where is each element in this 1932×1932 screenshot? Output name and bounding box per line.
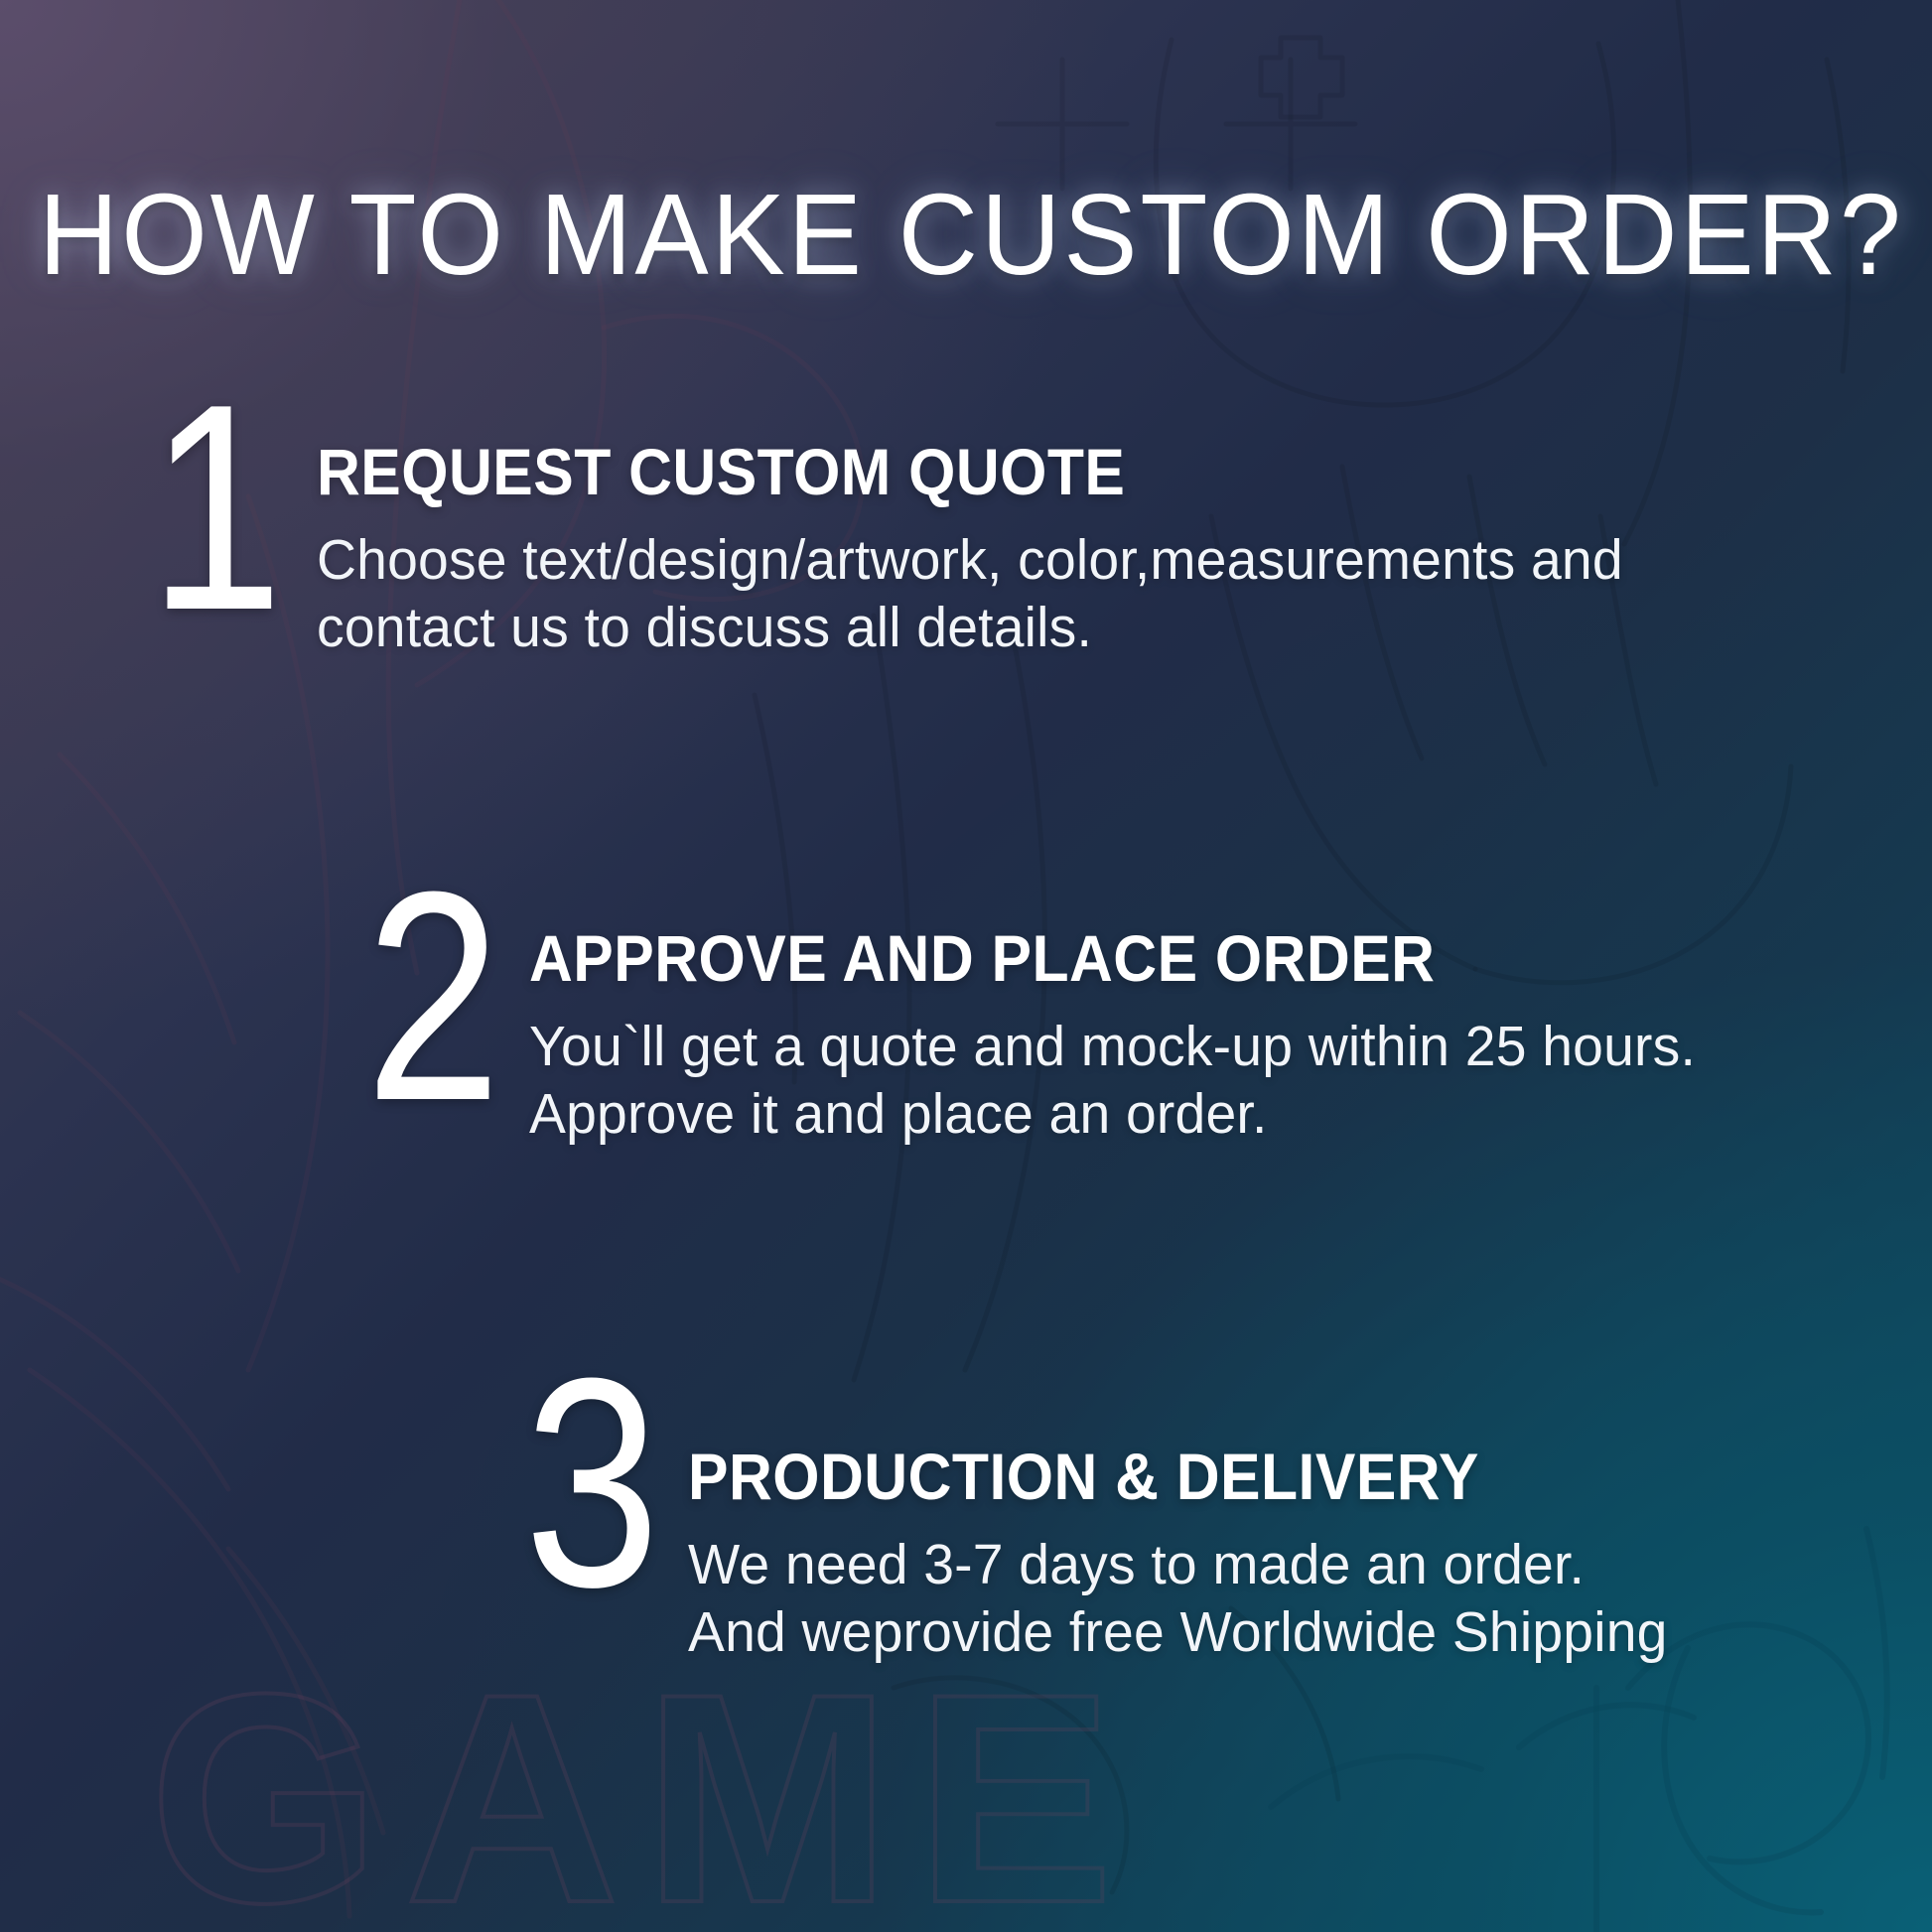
step-heading-3: PRODUCTION & DELIVERY	[688, 1444, 1617, 1509]
step-description-3-line-1: We need 3-7 days to made an order.	[688, 1531, 1668, 1598]
step-description-3: We need 3-7 days to made an order. And w…	[688, 1531, 1668, 1667]
step-description-1-line-1: Choose text/design/artwork, color,measur…	[317, 526, 1623, 594]
step-description-2: You`ll get a quote and mock-up within 25…	[529, 1013, 1696, 1149]
step-item-1: 1 REQUEST CUSTOM QUOTE Choose text/desig…	[149, 415, 1663, 662]
step-item-3: 3 PRODUCTION & DELIVERY We need 3-7 days…	[524, 1388, 1698, 1667]
step-number-2: 2	[365, 880, 496, 1112]
step-body-3: PRODUCTION & DELIVERY We need 3-7 days t…	[688, 1444, 1698, 1667]
step-description-3-line-2: And weprovide free Worldwide Shipping	[688, 1598, 1668, 1666]
step-item-2: 2 APPROVE AND PLACE ORDER You`ll get a q…	[365, 901, 1731, 1149]
step-body-1: REQUEST CUSTOM QUOTE Choose text/design/…	[317, 439, 1664, 662]
infographic-poster: GAME HOW TO MAKE CUSTOM ORDER? 1 REQUEST…	[0, 0, 1932, 1932]
step-heading-1: REQUEST CUSTOM QUOTE	[317, 439, 1556, 504]
page-title: HOW TO MAKE CUSTOM ORDER?	[39, 177, 1893, 292]
step-description-2-line-2: Approve it and place an order.	[529, 1080, 1696, 1148]
step-heading-2: APPROVE AND PLACE ORDER	[529, 925, 1635, 991]
background-watermark-text: GAME	[149, 1626, 1138, 1932]
step-number-3: 3	[524, 1366, 655, 1598]
step-number-1: 1	[149, 393, 278, 622]
step-description-1-line-2: contact us to discuss all details.	[317, 594, 1623, 661]
step-description-2-line-1: You`ll get a quote and mock-up within 25…	[529, 1013, 1696, 1080]
step-body-2: APPROVE AND PLACE ORDER You`ll get a quo…	[529, 925, 1731, 1149]
step-description-1: Choose text/design/artwork, color,measur…	[317, 526, 1623, 662]
